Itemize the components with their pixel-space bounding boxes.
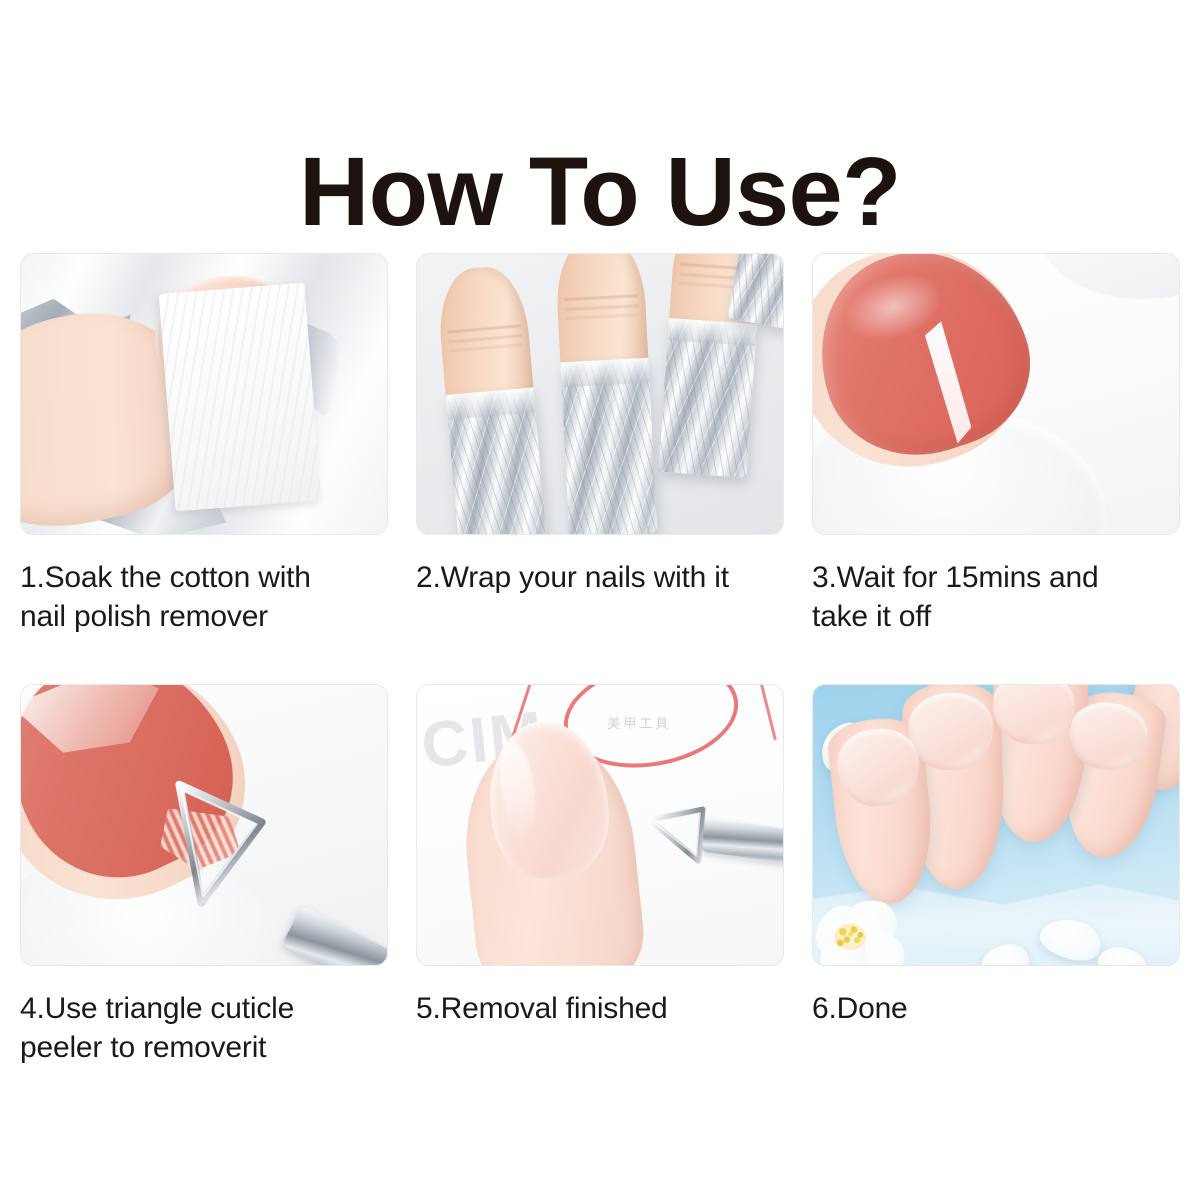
step-2-photo-wrap-nails — [416, 253, 784, 535]
wrapped-finger-2-graphic — [557, 294, 657, 528]
step-2-caption: 2.Wrap your nails with it — [416, 558, 784, 597]
foil-wrap-graphic — [446, 387, 549, 535]
step-4-photo-triangle-peeler — [20, 684, 388, 966]
red-line-mark-right-graphic — [757, 684, 778, 740]
wrapped-finger-4-graphic — [728, 253, 784, 327]
foil-wrap-graphic — [728, 253, 784, 332]
foil-wrap-graphic — [658, 319, 756, 478]
step-4-caption: 4.Use triangle cuticle peeler to remover… — [20, 989, 388, 1067]
step-1-caption: 1.Soak the cotton with nail polish remov… — [20, 558, 388, 636]
foil-wrap-graphic — [561, 358, 658, 535]
step-item-4: 4.Use triangle cuticle peeler to remover… — [20, 684, 388, 1067]
step-item-5: CIM 美甲工具 — [416, 684, 784, 1067]
cotton-pad-graphic — [159, 282, 322, 511]
step-item-6: 6.Done — [812, 684, 1180, 1067]
step-5-photo-removal-finished: CIM 美甲工具 — [416, 684, 784, 966]
wrapped-finger-1-graphic — [440, 323, 548, 535]
step-item-1: 1.Soak the cotton with nail polish remov… — [20, 253, 388, 636]
step-6-photo-done — [812, 684, 1180, 966]
steps-grid: 1.Soak the cotton with nail polish remov… — [20, 253, 1180, 1067]
step-6-caption: 6.Done — [812, 989, 1180, 1028]
step-3-caption: 3.Wait for 15mins and take it off — [812, 558, 1180, 636]
peeler-handle-graphic — [281, 906, 388, 966]
hand-graphic — [835, 684, 1180, 915]
page-title: How To Use? — [0, 143, 1200, 240]
background-cloth-upper-graphic — [1040, 253, 1180, 299]
step-1-photo-soak-cotton — [20, 253, 388, 535]
step-item-2: 2.Wrap your nails with it — [416, 253, 784, 636]
step-5-caption: 5.Removal finished — [416, 989, 784, 1028]
white-flower-graphic — [813, 903, 908, 966]
step-item-3: 3.Wait for 15mins and take it off — [812, 253, 1180, 636]
step-3-photo-wait-15mins — [812, 253, 1180, 535]
